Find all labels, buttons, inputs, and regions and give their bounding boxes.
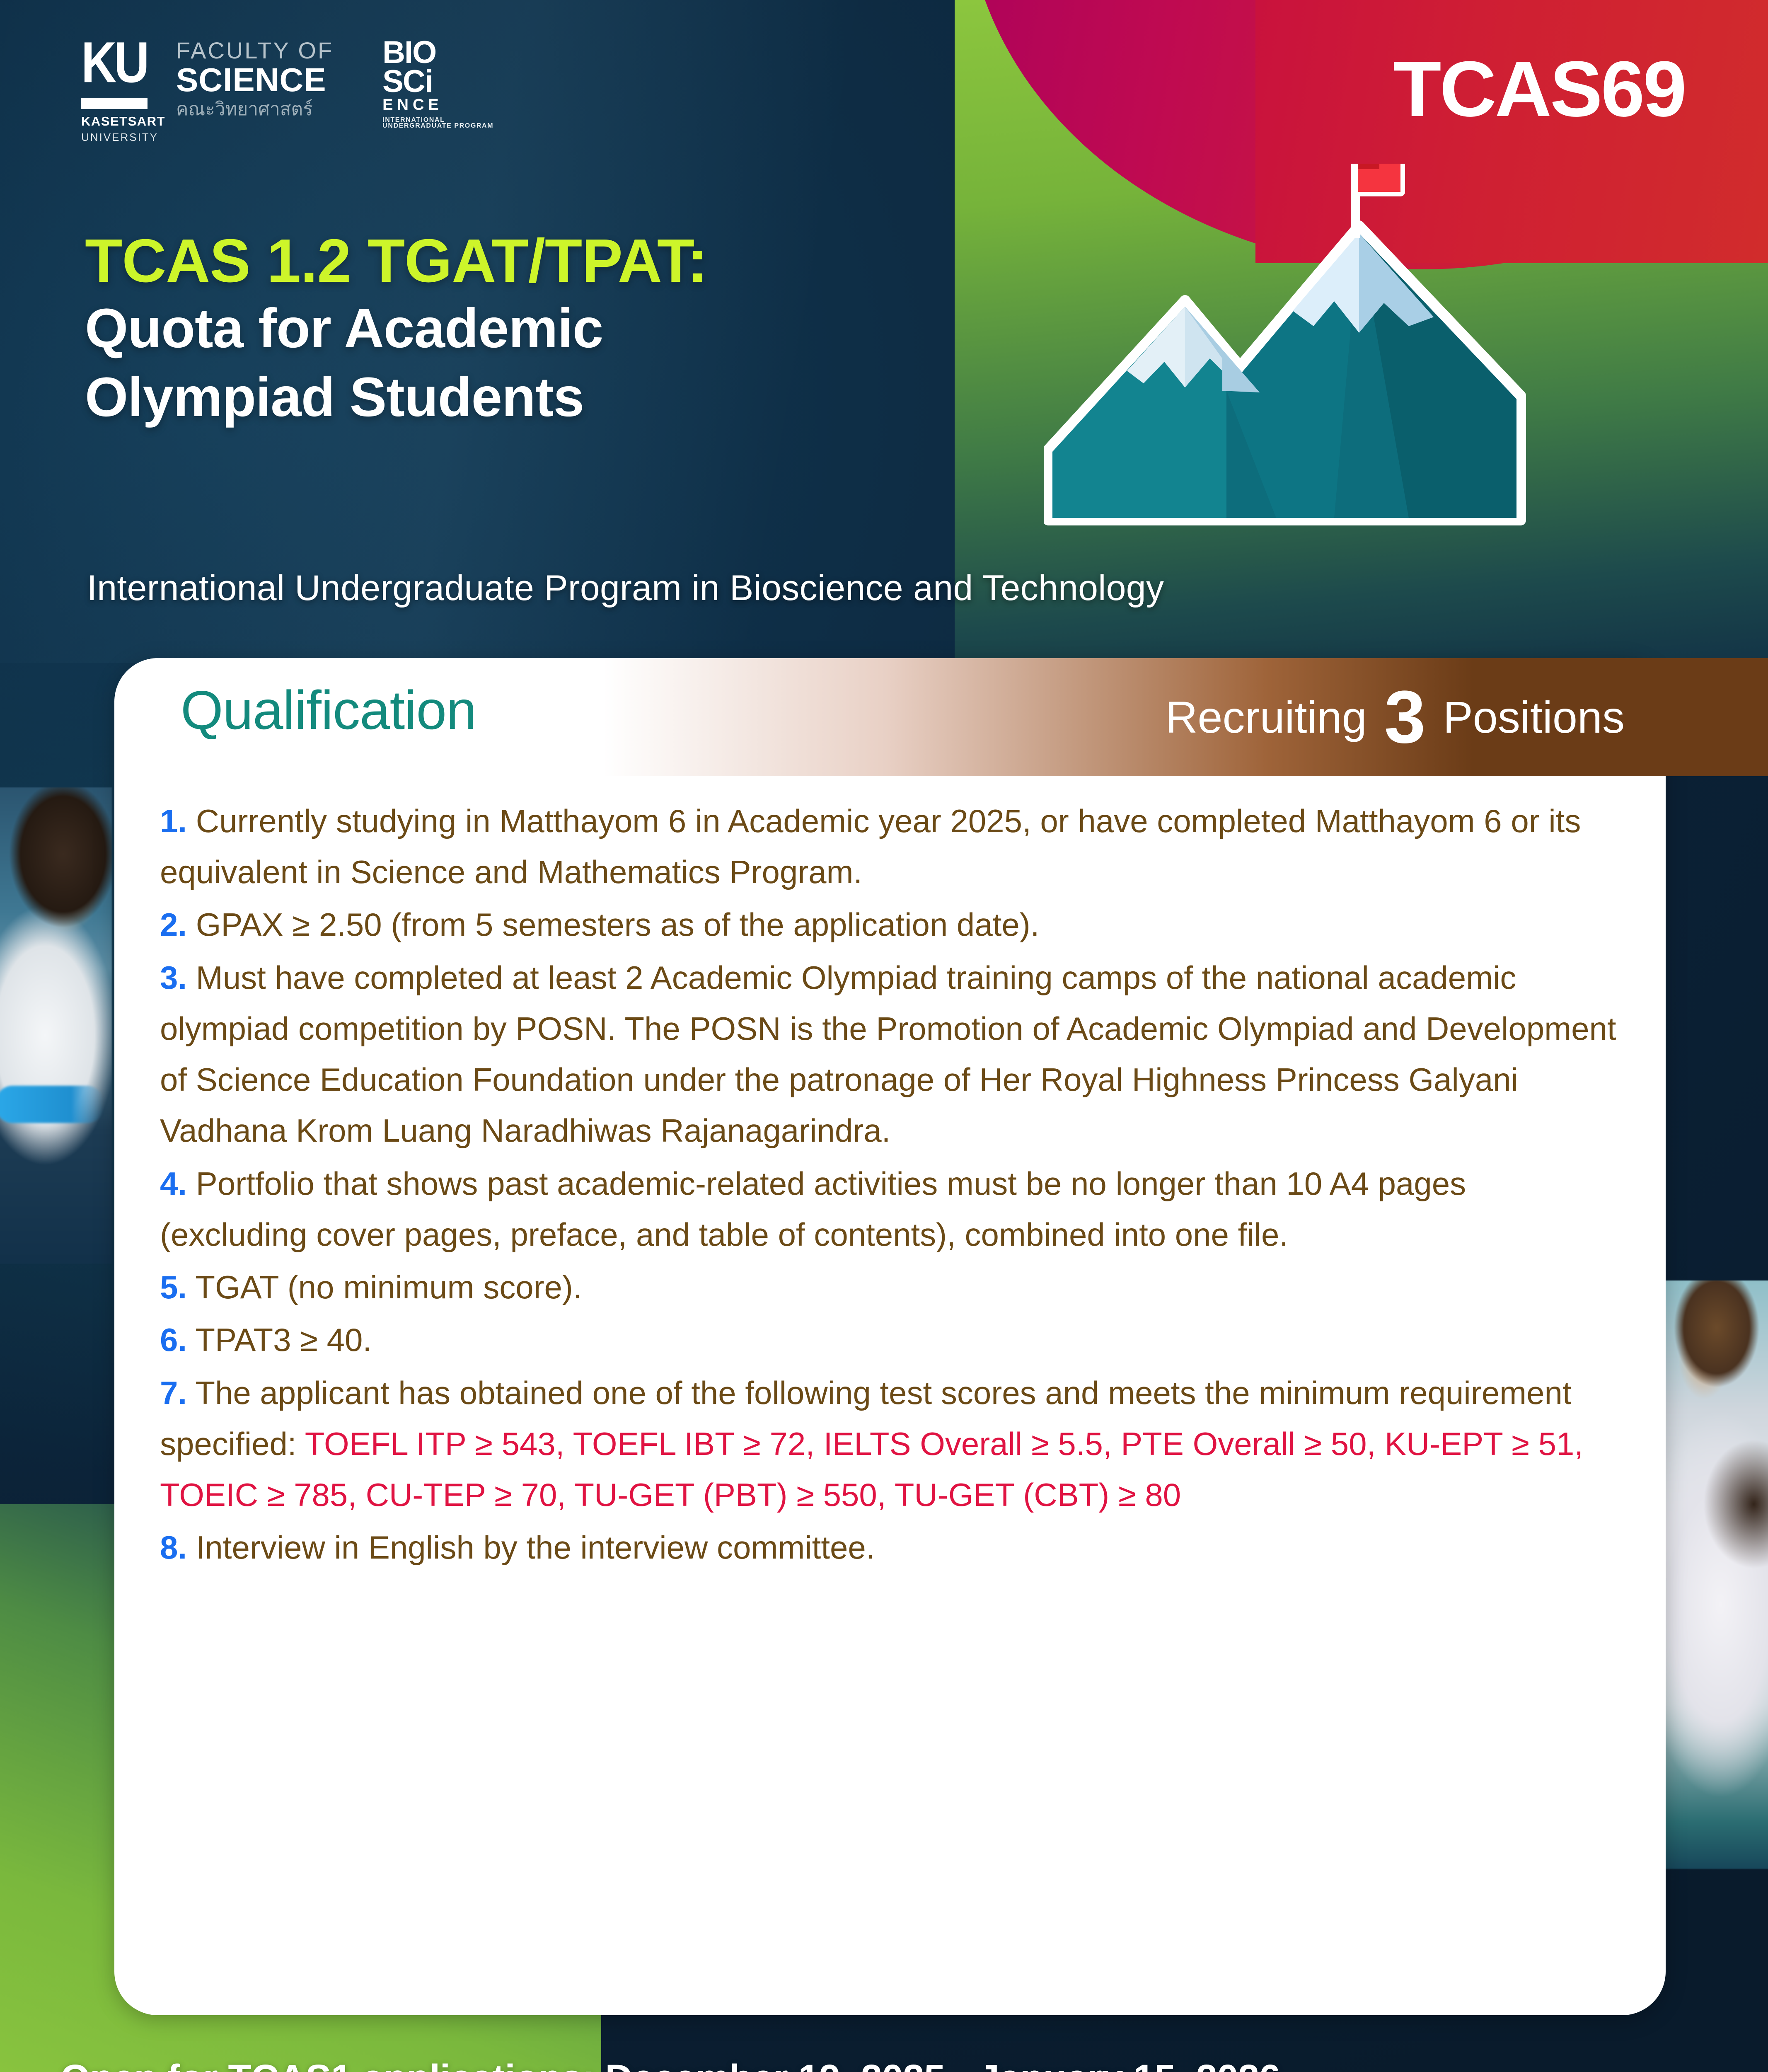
ku-university-name: KASETSART [81, 114, 165, 129]
qualification-item-text: Must have completed at least 2 Academic … [160, 959, 1616, 1149]
qualification-item-number: 3. [160, 959, 187, 996]
application-period-text: Open for TCAS1 applications: December 19… [60, 2057, 1280, 2072]
headline-line2: Quota for Academic [85, 294, 1121, 363]
qualification-item-number: 8. [160, 1529, 187, 1566]
bio-logo-line5: UNDERGRADUATE PROGRAM [382, 123, 493, 129]
qualification-item: 3. Must have completed at least 2 Academ… [160, 952, 1620, 1157]
bio-logo-line3: ENCE [382, 98, 493, 112]
qualification-item: 2. GPAX ≥ 2.50 (from 5 semesters as of t… [160, 899, 1620, 950]
qualification-item-number: 6. [160, 1322, 187, 1358]
qualification-item: 8. Interview in English by the interview… [160, 1522, 1620, 1573]
logo-row: KU KASETSART UNIVERSITY FACULTY OF SCIEN… [81, 38, 493, 144]
qualification-item-text: GPAX ≥ 2.50 (from 5 semesters as of the … [187, 906, 1039, 943]
program-subtitle: International Undergraduate Program in B… [87, 568, 1164, 609]
tcas69-badge: TCAS69 [1393, 50, 1685, 128]
headline-highlight: TCAS 1.2 TGAT/TPAT: [85, 228, 1121, 294]
mountain-flag-illustration [1044, 164, 1587, 549]
ku-monogram: KU KASETSART UNIVERSITY [81, 38, 165, 144]
recruiting-banner-content: Recruiting 3 Positions [1165, 658, 1654, 776]
positions-label: Positions [1443, 691, 1625, 743]
bioscience-logo: BIO SCi ENCE INTERNATIONAL UNDERGRADUATE… [382, 38, 493, 129]
qualification-item-number: 2. [160, 906, 187, 943]
headline-block: TCAS 1.2 TGAT/TPAT: Quota for Academic O… [85, 228, 1121, 432]
headline-line3: Olympiad Students [85, 363, 1121, 432]
faculty-thai-label: คณะวิทยาศาสตร์ [176, 99, 334, 119]
qualification-header-row: Qualification Recruiting 3 Positions [114, 658, 1768, 776]
qualification-item-text: TGAT (no minimum score). [187, 1269, 582, 1305]
kasetsart-logo: KU KASETSART UNIVERSITY FACULTY OF SCIEN… [81, 38, 334, 144]
ku-letters: KU [81, 38, 147, 88]
faculty-of-science-logo: FACULTY OF SCIENCE คณะวิทยาศาสตร์ [176, 38, 334, 120]
faculty-of-label: FACULTY OF [176, 39, 334, 62]
qualification-item: 6. TPAT3 ≥ 40. [160, 1314, 1620, 1365]
qualification-item-text: Portfolio that shows past academic-relat… [160, 1165, 1466, 1253]
qualification-list: 1. Currently studying in Matthayom 6 in … [114, 796, 1666, 1575]
application-period-bar: Open for TCAS1 applications: December 19… [0, 2031, 1768, 2072]
qualification-item-scores: TOEFL ITP ≥ 543, TOEFL IBT ≥ 72, IELTS O… [160, 1426, 1583, 1513]
faculty-science-label: SCIENCE [176, 62, 334, 98]
qualification-item: 1. Currently studying in Matthayom 6 in … [160, 796, 1620, 898]
qualification-item-text: Currently studying in Matthayom 6 in Aca… [160, 803, 1581, 890]
qualification-item-number: 1. [160, 803, 187, 839]
qualification-heading: Qualification [181, 679, 476, 741]
qualification-item-number: 5. [160, 1269, 187, 1305]
ku-university-sub: UNIVERSITY [81, 131, 158, 144]
lab-photo-left-accent [0, 1086, 104, 1123]
qualification-item-text: Interview in English by the interview co… [187, 1529, 875, 1566]
qualification-item-number: 7. [160, 1375, 187, 1411]
recruiting-label: Recruiting [1165, 691, 1367, 743]
lab-photo-right [1652, 1280, 1768, 1869]
lab-photo-left [0, 787, 112, 1264]
bio-logo-line1: BIO [382, 38, 493, 67]
qualification-item: 4. Portfolio that shows past academic-re… [160, 1158, 1620, 1260]
ku-rule-divider [81, 98, 148, 109]
qualification-item: 7. The applicant has obtained one of the… [160, 1368, 1620, 1521]
positions-count: 3 [1384, 687, 1426, 747]
qualification-item: 5. TGAT (no minimum score). [160, 1262, 1620, 1313]
bio-logo-line2: SCi [382, 67, 493, 96]
qualification-item-number: 4. [160, 1165, 187, 1202]
poster-root: KU KASETSART UNIVERSITY FACULTY OF SCIEN… [0, 0, 1768, 2072]
qualification-item-text: TPAT3 ≥ 40. [187, 1322, 372, 1358]
